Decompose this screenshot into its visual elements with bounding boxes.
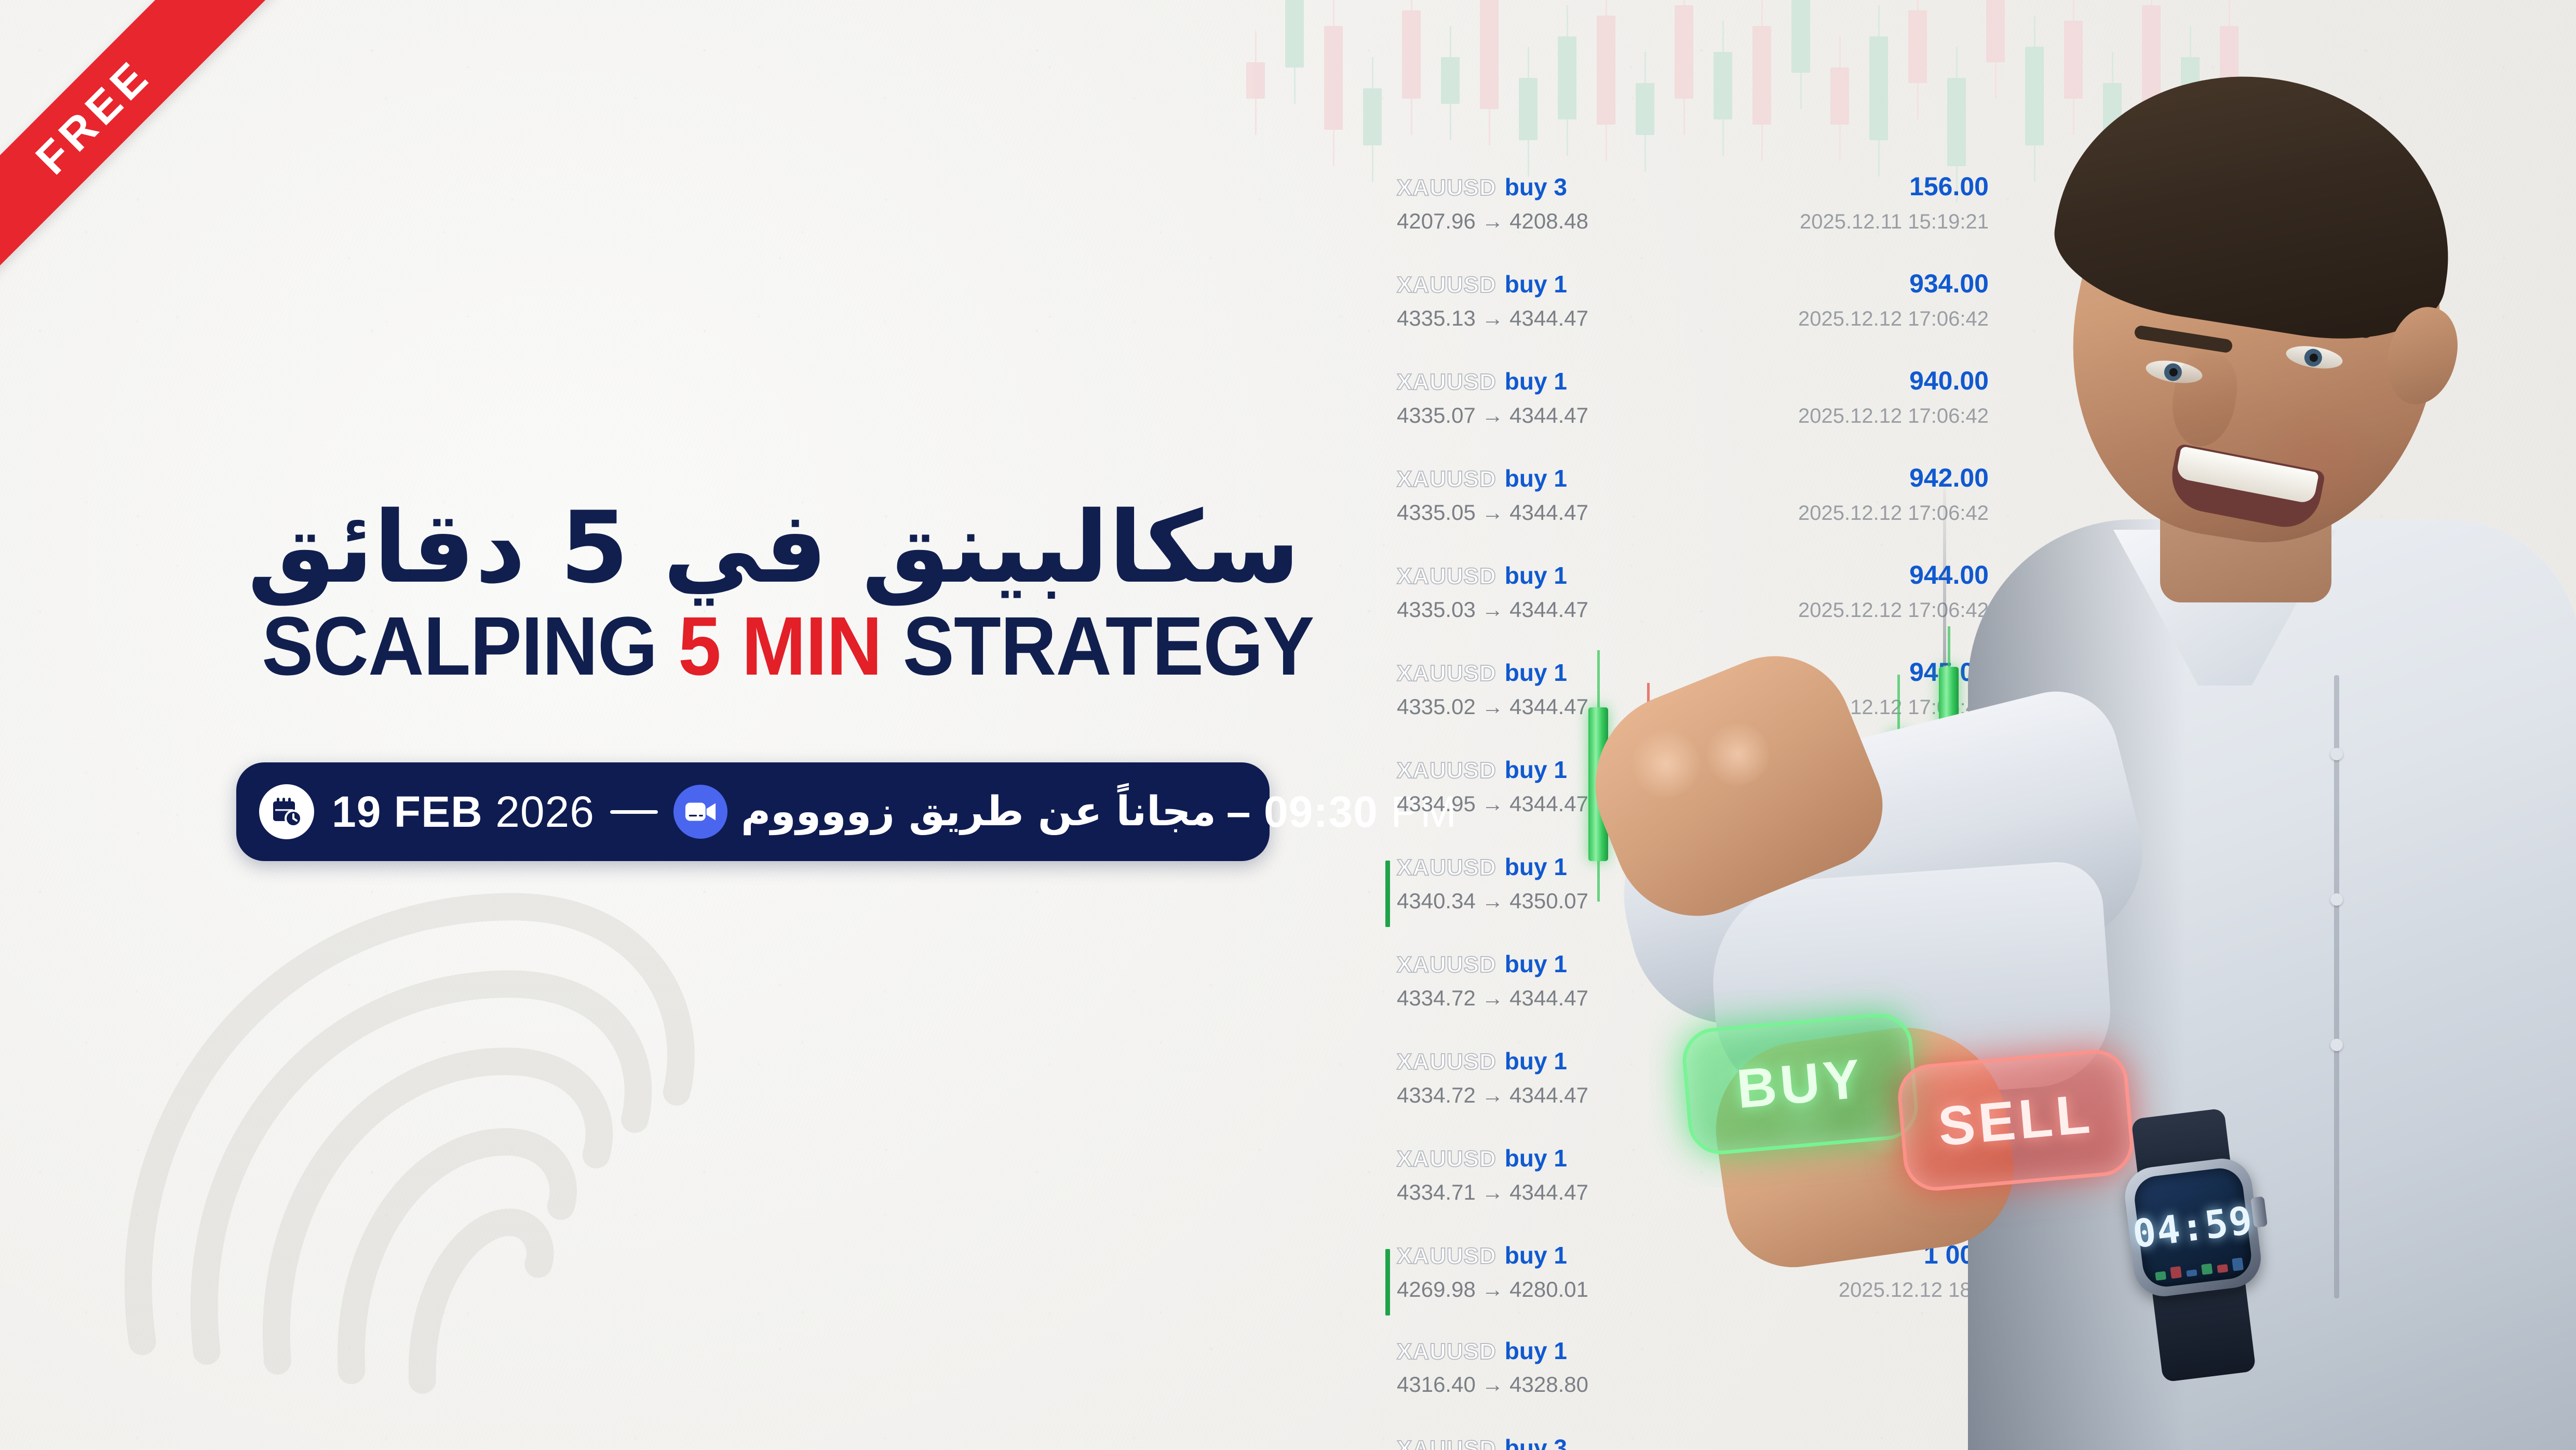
background-candle-body xyxy=(1402,10,1421,99)
background-candle-wick xyxy=(1644,52,1646,171)
trade-side: buy 1 xyxy=(1505,1144,1567,1172)
background-candle-wick xyxy=(1294,0,1296,104)
trade-side: buy 1 xyxy=(1505,756,1567,784)
page-title-english: SCALPING 5 MIN STRATEGY xyxy=(262,605,1286,688)
calendar-clock-icon xyxy=(259,784,314,839)
background-candle-body xyxy=(1246,62,1265,99)
trade-prices: 4335.03 → 4344.47 xyxy=(1397,597,1588,622)
trade-symbol: XAUUSD xyxy=(1397,272,1496,298)
trade-row-marker xyxy=(1385,1249,1390,1315)
shirt-button xyxy=(2330,748,2343,760)
trade-side: buy 1 xyxy=(1505,659,1567,687)
trade-prices: 4335.13 → 4344.47 xyxy=(1397,306,1588,331)
background-candle-body xyxy=(1830,68,1849,125)
trade-row-marker xyxy=(1385,861,1390,927)
background-candle-wick xyxy=(1450,26,1451,140)
background-candle-body xyxy=(1597,16,1615,125)
trade-side: buy 1 xyxy=(1505,367,1567,395)
trade-prices: 4334.95 → 4344.47 xyxy=(1397,791,1588,816)
trade-side: buy 1 xyxy=(1505,1241,1567,1269)
smartwatch: 04:59 xyxy=(2106,1134,2287,1369)
buy-button-label: BUY xyxy=(1734,1047,1866,1121)
background-candle-body xyxy=(1675,5,1693,99)
event-date-year: 2026 xyxy=(495,787,595,836)
event-info-bar[interactable]: 19 FEB 2026 مجاناً عن طريق زووووم – 09:3… xyxy=(236,762,1270,861)
trade-symbol: XAUUSD xyxy=(1397,369,1496,395)
trade-prices: 4335.07 → 4344.47 xyxy=(1397,403,1588,428)
background-candle-body xyxy=(1480,0,1499,109)
trade-prices: 4335.02 → 4344.47 xyxy=(1397,694,1588,719)
background-candle-body xyxy=(1441,57,1460,104)
trade-side: buy 3 xyxy=(1505,173,1567,201)
background-candle-body xyxy=(1869,36,1888,140)
trade-symbol: XAUUSD xyxy=(1397,1146,1496,1172)
headline-block: سكالبينق في 5 دقائق SCALPING 5 MIN STRAT… xyxy=(223,499,1324,688)
promo-banner: FREE سكالبينق في 5 دقائق SCALPING 5 MIN … xyxy=(0,0,2576,1450)
background-candle-wick xyxy=(1761,0,1763,161)
background-candle-body xyxy=(1519,78,1537,140)
background-candle-wick xyxy=(1839,36,1841,161)
trade-symbol: XAUUSD xyxy=(1397,1339,1496,1365)
trade-side: buy 3 xyxy=(1505,1434,1567,1450)
background-candle-wick xyxy=(1528,47,1529,177)
background-candle-wick xyxy=(1722,21,1724,156)
separator-dash xyxy=(610,810,658,814)
trade-symbol: XAUUSD xyxy=(1397,1243,1496,1269)
event-date-daymonth: 19 FEB xyxy=(332,787,483,836)
event-arabic-note: مجاناً عن طريق زووووم xyxy=(741,788,1216,835)
shirt-button xyxy=(2330,1039,2343,1051)
trade-symbol: XAUUSD xyxy=(1397,1049,1496,1075)
page-title-arabic: سكالبينق في 5 دقائق xyxy=(223,499,1324,597)
background-candle-body xyxy=(1363,88,1382,145)
trade-symbol: XAUUSD xyxy=(1397,952,1496,978)
trade-symbol: XAUUSD xyxy=(1397,758,1496,784)
trade-symbol: XAUUSD xyxy=(1397,1436,1496,1450)
background-candle-body xyxy=(1285,0,1304,68)
title-highlight: 5 MIN xyxy=(678,599,882,692)
free-ribbon-label: FREE xyxy=(26,49,161,184)
trade-symbol: XAUUSD xyxy=(1397,661,1496,687)
trade-side: buy 1 xyxy=(1505,1337,1567,1365)
background-candle-wick xyxy=(1567,5,1568,156)
knuckle xyxy=(1617,718,1715,810)
trade-side: buy 1 xyxy=(1505,270,1567,298)
background-candle-wick xyxy=(1878,5,1880,177)
background-candle-wick xyxy=(1683,0,1685,135)
background-candle-body xyxy=(1752,26,1771,125)
trade-symbol: XAUUSD xyxy=(1397,563,1496,589)
background-candle-wick xyxy=(1606,0,1607,161)
trade-prices: 4340.34 → 4350.07 xyxy=(1397,889,1588,914)
background-candle-body xyxy=(1324,26,1343,130)
background-candle-body xyxy=(1558,36,1576,119)
background-candle-wick xyxy=(1800,0,1802,109)
trade-symbol: XAUUSD xyxy=(1397,855,1496,881)
event-date: 19 FEB 2026 xyxy=(332,787,595,837)
trade-prices: 4316.40 → 4328.80 xyxy=(1397,1372,1588,1397)
background-candle-body xyxy=(1714,52,1732,119)
trade-side: buy 1 xyxy=(1505,561,1567,589)
zoom-video-icon xyxy=(673,785,727,839)
sell-button[interactable]: SELL xyxy=(1895,1047,2136,1193)
trade-side: buy 1 xyxy=(1505,853,1567,881)
trade-symbol: XAUUSD xyxy=(1397,466,1496,492)
trade-side: buy 1 xyxy=(1505,464,1567,492)
sell-button-label: SELL xyxy=(1936,1082,2096,1159)
background-candle-body xyxy=(1986,0,2005,62)
knuckle xyxy=(1693,712,1784,797)
background-candle-wick xyxy=(1333,0,1334,166)
trade-prices: 4334.71 → 4344.47 xyxy=(1397,1180,1588,1205)
watch-time: 04:59 xyxy=(2130,1198,2256,1257)
shirt-button xyxy=(2330,893,2343,906)
event-time-value: – 09:30 xyxy=(1226,787,1378,836)
trade-side: buy 1 xyxy=(1505,1047,1567,1075)
background-candle-wick xyxy=(1255,31,1257,135)
shirt-placket xyxy=(2334,675,2339,1298)
title-pre: SCALPING xyxy=(262,599,678,692)
background-candle-body xyxy=(1791,0,1810,73)
buy-button[interactable]: BUY xyxy=(1680,1011,1921,1157)
background-candle-wick xyxy=(1411,0,1412,135)
free-ribbon: FREE xyxy=(0,0,308,332)
brand-watermark xyxy=(62,810,737,1450)
background-candle-wick xyxy=(1372,57,1373,182)
trade-prices: 4335.05 → 4344.47 xyxy=(1397,500,1588,525)
title-post: STRATEGY xyxy=(882,599,1314,692)
trade-side: buy 1 xyxy=(1505,950,1567,978)
trade-prices: 4334.72 → 4344.47 xyxy=(1397,986,1588,1011)
trade-symbol: XAUUSD xyxy=(1397,175,1496,201)
trade-prices: 4269.98 → 4280.01 xyxy=(1397,1277,1588,1302)
trade-prices: 4334.72 → 4344.47 xyxy=(1397,1083,1588,1108)
background-candle-wick xyxy=(1489,0,1490,145)
trade-prices: 4207.96 → 4208.48 xyxy=(1397,209,1588,234)
background-candle-body xyxy=(1636,83,1654,135)
